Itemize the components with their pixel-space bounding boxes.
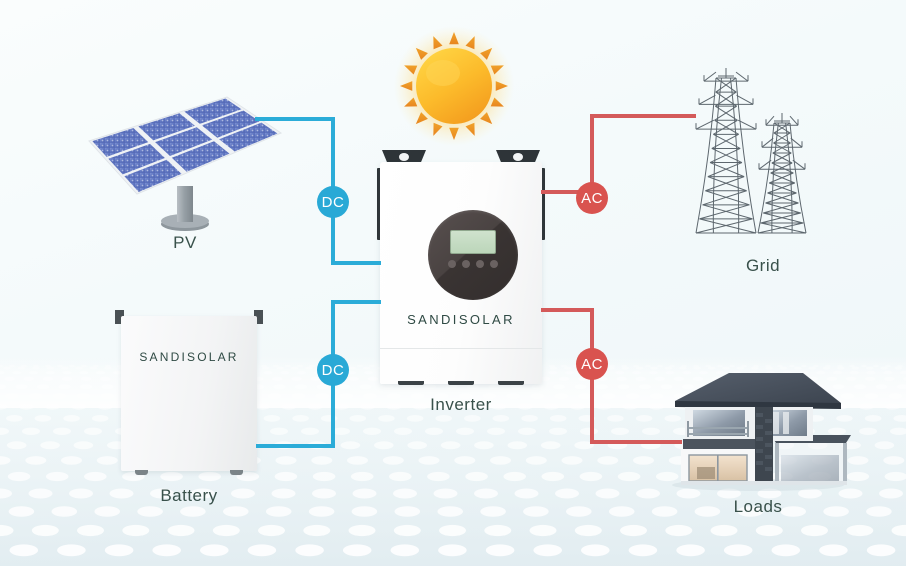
badge-ac-loads: AC <box>576 348 608 380</box>
transmission-tower-icon: Grid <box>678 48 848 253</box>
loads-label: Loads <box>663 497 853 517</box>
sun-icon <box>393 25 515 147</box>
inverter-brand-logo: SANDISOLAR <box>380 312 542 327</box>
badge-ac-grid: AC <box>576 182 608 214</box>
battery-label: Battery <box>113 486 265 506</box>
inverter-label: Inverter <box>368 395 554 415</box>
wire-pv-horizontal-top <box>255 117 335 121</box>
inverter-display-dial <box>428 210 518 300</box>
inverter-lcd-screen <box>450 230 496 254</box>
battery-cabinet-icon: SANDISOLAR Battery <box>113 310 265 480</box>
badge-dc-pv: DC <box>317 186 349 218</box>
house-icon: Loads <box>663 363 853 493</box>
inverter-keypad[interactable] <box>448 260 498 268</box>
wire-loads-horizontal-from-inverter <box>541 308 593 312</box>
diagram-canvas: PV SANDISOLAR Battery SANDISOLAR <box>0 0 906 566</box>
wire-loads-horizontal-bottom <box>590 440 682 444</box>
wire-pv-horizontal-into-inverter <box>331 261 381 265</box>
grid-label: Grid <box>678 256 848 276</box>
battery-brand-logo: SANDISOLAR <box>121 350 257 364</box>
badge-dc-battery: DC <box>317 354 349 386</box>
wire-battery-horizontal-top <box>331 300 381 304</box>
wire-battery-horizontal-bottom <box>256 444 335 448</box>
pv-label: PV <box>85 233 285 253</box>
inverter-icon: SANDISOLAR Inverter <box>368 150 554 385</box>
solar-panel-icon: PV <box>85 93 285 233</box>
wire-grid-horizontal-top <box>590 114 696 118</box>
